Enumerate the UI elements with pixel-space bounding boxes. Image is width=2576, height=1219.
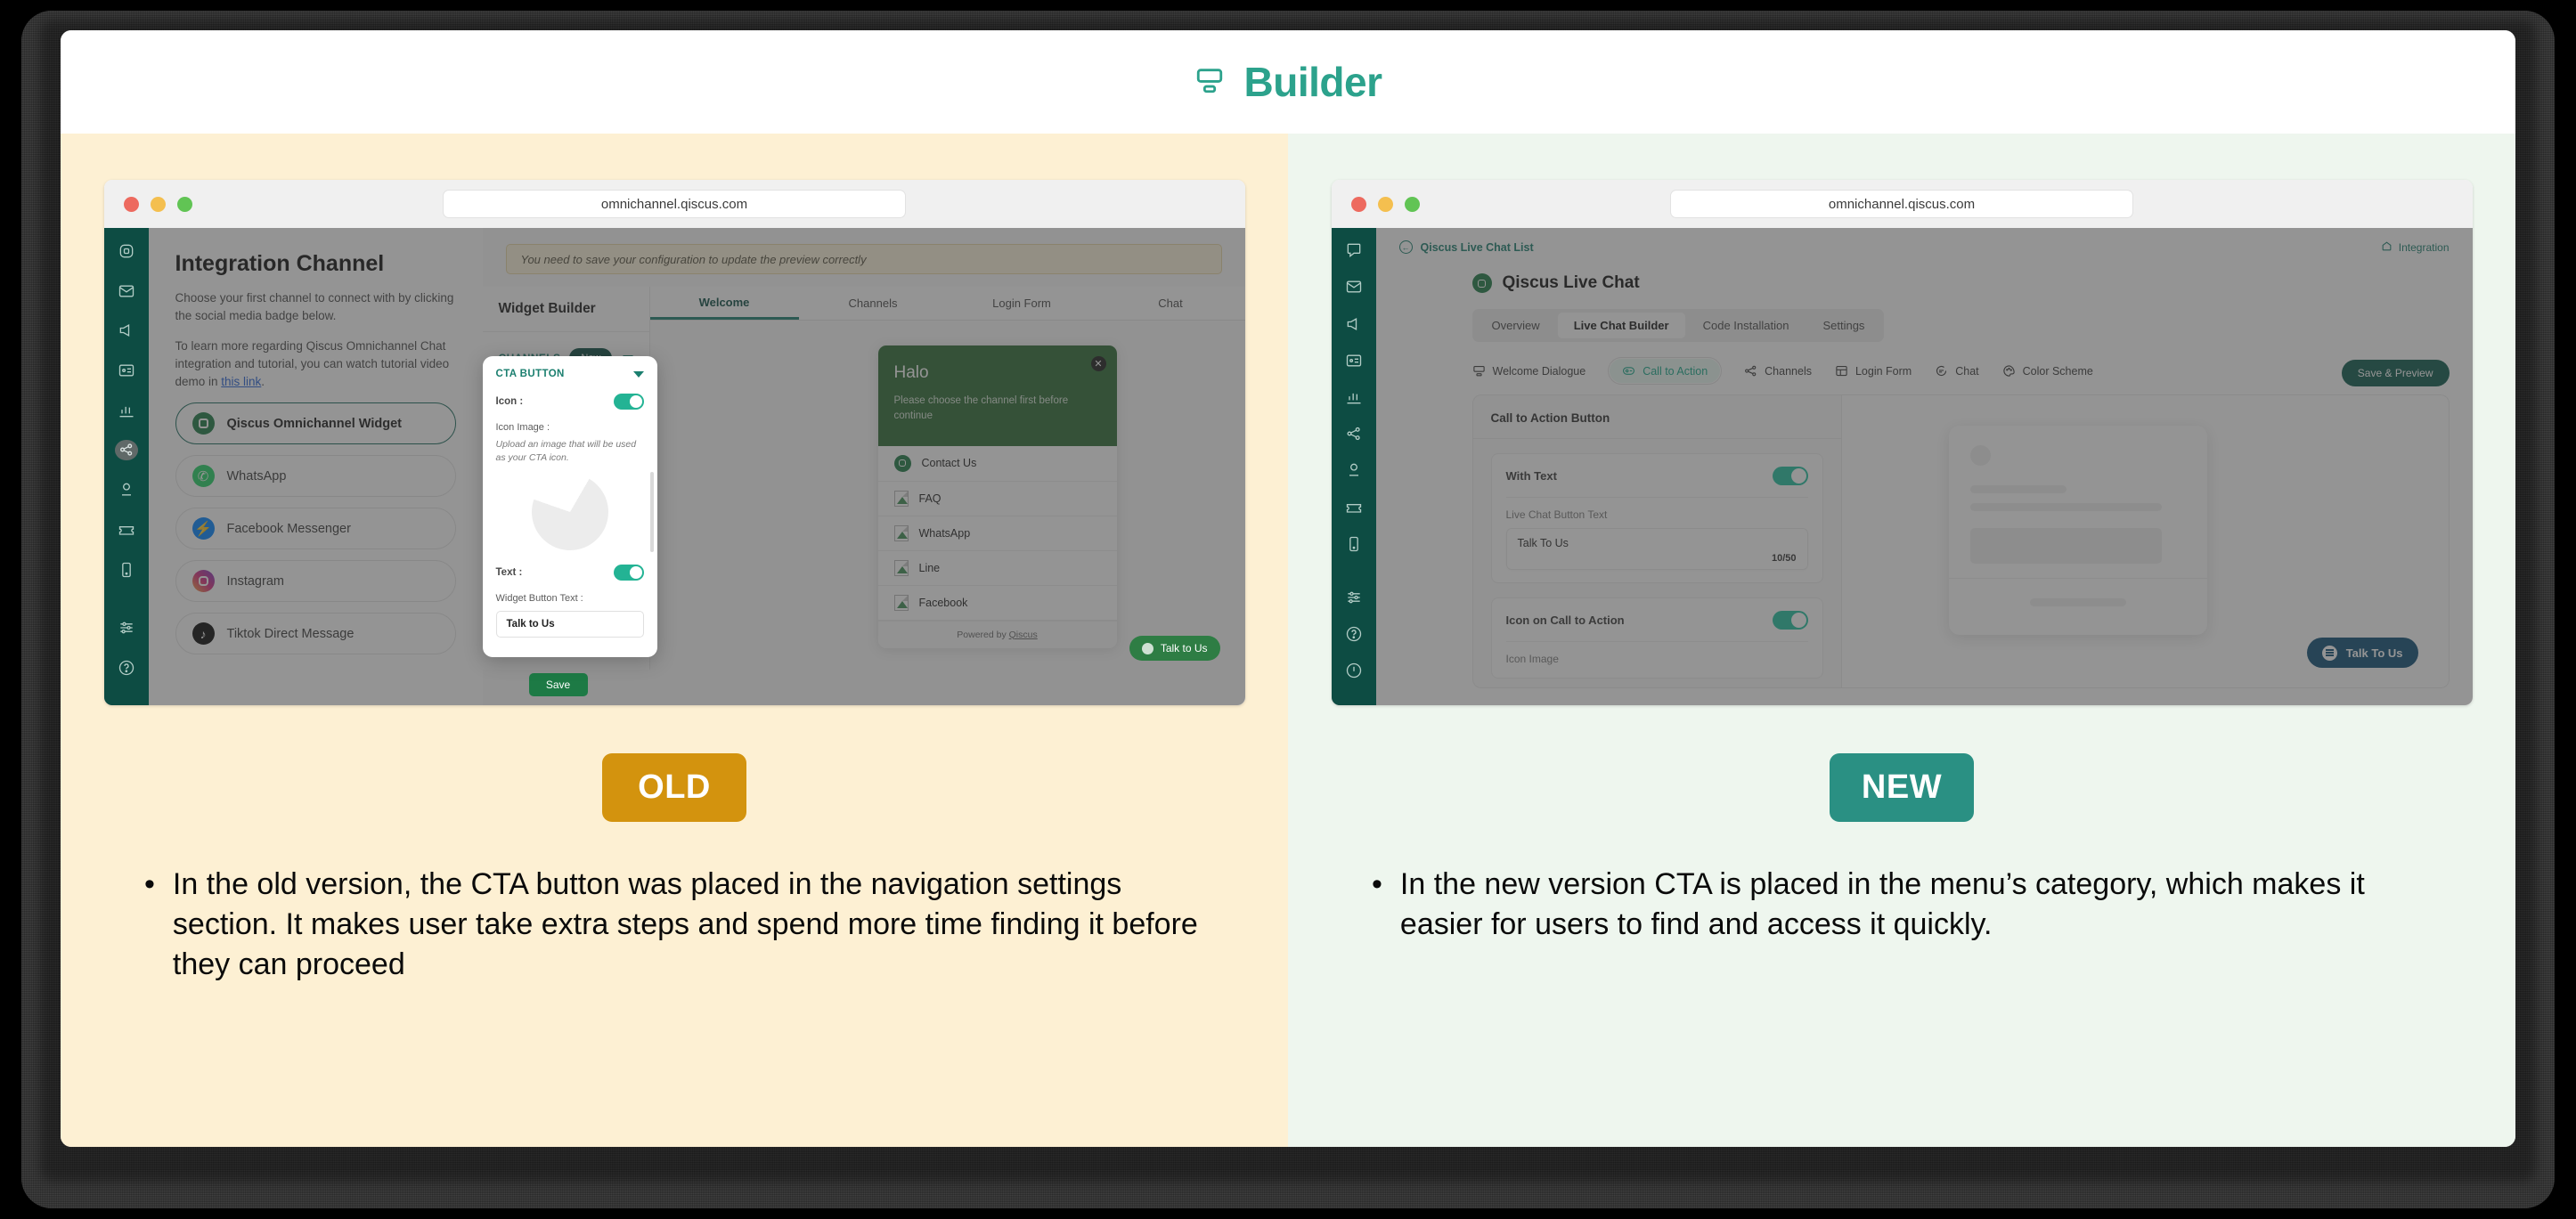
qiscus-icon — [1472, 273, 1492, 293]
live-chat-button-text-input[interactable]: Talk To Us 10/50 — [1506, 528, 1808, 570]
preview-talk-to-us-button[interactable]: Talk To Us — [2307, 638, 2418, 668]
icon-image-label: Icon Image — [1506, 653, 1808, 665]
channel-label: Tiktok Direct Message — [227, 627, 355, 641]
new-browser-mock: omnichannel.qiscus.com — [1332, 180, 2473, 705]
subnav-label: Login Form — [1855, 365, 1912, 378]
icon-on-cta-toggle[interactable] — [1773, 611, 1808, 630]
analytics-icon[interactable] — [115, 400, 138, 421]
with-text-box: With Text Live Chat Button Text Talk To … — [1491, 453, 1823, 583]
cta-button-title: CTA BUTTON — [496, 369, 565, 379]
subnav-chat[interactable]: Chat — [1935, 364, 1978, 378]
broken-image-icon — [894, 595, 909, 611]
live-chat-button-text-label: Live Chat Button Text — [1506, 508, 1808, 521]
close-window-dot[interactable] — [124, 197, 139, 212]
help-icon[interactable] — [1342, 624, 1365, 644]
skeleton-line — [1970, 503, 2162, 511]
old-browser-viewport: Integration Channel Choose your first ch… — [104, 228, 1245, 705]
bullet-marker: • — [1372, 865, 1382, 945]
paragraph-2-pre: To learn more regarding Qiscus Omnichann… — [175, 339, 450, 389]
integration-label: Integration — [2399, 241, 2450, 254]
call-to-action-panel: Call to Action Button With Text Live Cha… — [1472, 394, 1842, 688]
divider — [1506, 641, 1808, 642]
cta-text-toggle-row: Text : — [496, 565, 644, 581]
subnav-label: Welcome Dialogue — [1493, 365, 1586, 378]
builder-subnav: Welcome Dialogue Call to Action — [1472, 363, 2450, 378]
channel-option-tiktok-direct-message[interactable]: ♪ Tiktok Direct Message — [175, 613, 456, 654]
layout-icon — [1194, 65, 1225, 100]
cta-icon — [1622, 364, 1635, 378]
divider — [483, 331, 649, 332]
tab-channels[interactable]: Channels — [799, 287, 948, 320]
new-browser-viewport: ← Qiscus Live Chat List Integration Qisc… — [1332, 228, 2473, 705]
cta-button-popover: CTA BUTTON Icon : Icon Image : Upload an… — [483, 356, 657, 657]
tab-welcome[interactable]: Welcome — [650, 287, 799, 320]
home-icon — [2381, 240, 2393, 255]
widget-preview-footer: Powered by Qiscus — [878, 621, 1117, 648]
widget-preview-heading: Halo — [894, 363, 1101, 383]
old-preview-tabs: Welcome Channels Login Form Chat — [650, 287, 1245, 321]
subnav-call-to-action[interactable]: Call to Action — [1609, 358, 1721, 384]
messenger-icon: ⚡ — [192, 517, 215, 540]
window-controls[interactable] — [124, 197, 192, 212]
skeleton-line — [1970, 485, 2067, 493]
tab-code-installation[interactable]: Code Installation — [1687, 313, 1806, 338]
new-panel: omnichannel.qiscus.com — [1288, 134, 2515, 1147]
save-and-preview-button[interactable]: Save & Preview — [2342, 360, 2450, 386]
subnav-label: Channels — [1765, 365, 1812, 378]
integration-channel-column: Integration Channel Choose your first ch… — [149, 228, 483, 705]
palette-icon — [2002, 364, 2016, 378]
tab-live-chat-builder[interactable]: Live Chat Builder — [1558, 313, 1685, 338]
config-alert-banner: You need to save your configuration to u… — [506, 244, 1222, 274]
divider — [1506, 497, 1808, 498]
powered-by-text: Powered by — [957, 630, 1008, 640]
skeleton-line — [2030, 598, 2126, 606]
subnav-label: Call to Action — [1643, 365, 1708, 378]
subnav-label: Color Scheme — [2023, 365, 2093, 378]
address-bar[interactable]: omnichannel.qiscus.com — [1670, 190, 2133, 218]
window-controls[interactable] — [1351, 197, 1420, 212]
integration-channel-title: Integration Channel — [175, 251, 456, 277]
old-panel: omnichannel.qiscus.com — [61, 134, 1288, 1147]
channel-option-facebook-messenger[interactable]: ⚡ Facebook Messenger — [175, 508, 456, 549]
bullet-marker: • — [144, 865, 155, 986]
address-bar[interactable]: omnichannel.qiscus.com — [443, 190, 906, 218]
chat-icon — [1142, 643, 1153, 654]
channel-label: Qiscus Omnichannel Widget — [227, 417, 402, 431]
minimize-window-dot[interactable] — [151, 197, 166, 212]
channel-option-instagram[interactable]: Instagram — [175, 560, 456, 602]
whatsapp-icon: ✆ — [192, 465, 215, 487]
back-arrow-icon[interactable]: ← — [1399, 240, 1413, 254]
contacts-icon[interactable] — [1342, 351, 1365, 370]
talk-button-label: Talk to Us — [1161, 642, 1208, 654]
integration-channel-paragraph-2: To learn more regarding Qiscus Omnichann… — [175, 337, 456, 392]
chevron-down-icon[interactable] — [633, 371, 644, 378]
qiscus-logo-icon[interactable] — [115, 240, 138, 262]
preview-item-label: Facebook — [919, 597, 968, 609]
icon-on-cta-row: Icon on Call to Action — [1506, 611, 1808, 630]
cta-icon-toggle-row: Icon : — [496, 394, 644, 410]
old-main-area: You need to save your configuration to u… — [483, 228, 1245, 705]
cta-icon-image-hint: Upload an image that will be used as you… — [496, 438, 644, 465]
page-title: Qiscus Live Chat — [1503, 273, 1640, 293]
breadcrumb-label: Qiscus Live Chat List — [1421, 241, 1534, 254]
agents-icon[interactable] — [115, 479, 138, 500]
browser-titlebar: omnichannel.qiscus.com — [104, 180, 1245, 228]
close-window-dot[interactable] — [1351, 197, 1366, 212]
cta-icon-image-label: Icon Image : — [496, 422, 644, 433]
tiktok-icon: ♪ — [192, 622, 215, 645]
integration-link[interactable]: Integration — [2381, 240, 2450, 255]
qiscus-logo-icon[interactable] — [1342, 240, 1365, 260]
channel-option-qiscus-omnichannel-widget[interactable]: Qiscus Omnichannel Widget — [175, 402, 456, 444]
minimize-window-dot[interactable] — [1378, 197, 1393, 212]
subnav-label: Chat — [1955, 365, 1978, 378]
contacts-icon[interactable] — [115, 360, 138, 381]
broken-image-icon — [894, 525, 909, 541]
help-icon[interactable] — [115, 657, 138, 679]
page-title: Builder — [1244, 58, 1382, 106]
cta-icon-label: Icon : — [496, 396, 524, 407]
widget-builder-title: Widget Builder — [499, 301, 633, 317]
cta-icon-preview — [532, 474, 608, 550]
with-text-row: With Text — [1506, 467, 1808, 485]
widget-button-text-label: Widget Button Text : — [496, 593, 644, 604]
preview-item-label: Contact Us — [922, 457, 977, 469]
talk-button-label: Talk To Us — [2346, 646, 2403, 660]
breadcrumb[interactable]: ← Qiscus Live Chat List — [1399, 240, 2450, 254]
page-header: Builder — [61, 30, 2515, 134]
save-button[interactable]: Save — [529, 673, 588, 696]
subnav-color-scheme[interactable]: Color Scheme — [2002, 364, 2093, 378]
instagram-icon — [192, 570, 215, 592]
qiscus-icon — [192, 412, 215, 435]
mobile-icon[interactable] — [1342, 534, 1365, 554]
widget-preview-header: ✕ Halo Please choose the channel first b… — [878, 345, 1117, 446]
browser-titlebar: omnichannel.qiscus.com — [1332, 180, 2473, 228]
skeleton-block — [1970, 528, 2162, 564]
integration-icon[interactable] — [1342, 424, 1365, 443]
widget-preview: ✕ Halo Please choose the channel first b… — [878, 345, 1117, 648]
table-icon — [1835, 364, 1848, 378]
new-caption: • In the new version CTA is placed in th… — [1372, 865, 2432, 945]
new-preview-column: Talk To Us — [1842, 394, 2450, 688]
settings-sliders-icon[interactable] — [1342, 588, 1365, 607]
old-preview-column: Welcome Channels Login Form Chat ✕ Halo — [650, 287, 1245, 670]
close-icon[interactable]: ✕ — [1091, 356, 1106, 371]
channel-label: Instagram — [227, 574, 284, 589]
with-text-label: With Text — [1506, 469, 1557, 483]
page-title-row: Qiscus Live Chat — [1472, 273, 2450, 293]
preview-item-label: FAQ — [919, 492, 942, 505]
integration-icon[interactable] — [115, 440, 138, 461]
input-value: Talk To Us — [1518, 537, 1797, 549]
channel-option-whatsapp[interactable]: ✆ WhatsApp — [175, 455, 456, 497]
new-sidebar-rail — [1332, 228, 1376, 705]
old-sidebar-rail — [104, 228, 149, 705]
inbox-icon[interactable] — [1342, 277, 1365, 297]
chat-bubble-icon — [1935, 364, 1948, 378]
preview-skeleton-card — [1949, 426, 2207, 635]
widget-preview-subheading: Please choose the channel first before c… — [894, 394, 1101, 425]
share-nodes-icon — [1744, 364, 1757, 378]
settings-sliders-icon[interactable] — [115, 617, 138, 638]
old-split: Widget Builder CHANNELS New — [483, 287, 1245, 670]
new-tab-bar: Overview Live Chat Builder Code Installa… — [1472, 309, 1885, 342]
cta-icon-toggle[interactable] — [614, 394, 644, 410]
old-badge: OLD — [602, 753, 746, 822]
mobile-icon[interactable] — [115, 559, 138, 581]
icon-on-cta-box: Icon on Call to Action Icon Image — [1491, 597, 1823, 679]
maximize-window-dot[interactable] — [177, 197, 192, 212]
broken-image-icon — [894, 491, 909, 507]
tab-overview[interactable]: Overview — [1476, 313, 1556, 338]
preview-talk-to-us-button[interactable]: Talk to Us — [1129, 636, 1220, 661]
subnav-channels[interactable]: Channels — [1744, 364, 1812, 378]
tab-chat[interactable]: Chat — [1096, 287, 1245, 320]
tab-login-form[interactable]: Login Form — [948, 287, 1096, 320]
comparison-panels: omnichannel.qiscus.com — [61, 134, 2515, 1147]
builder-content: Call to Action Button With Text Live Cha… — [1472, 394, 2450, 688]
paragraph-2-post: . — [261, 375, 265, 388]
analytics-icon[interactable] — [1342, 387, 1365, 407]
maximize-window-dot[interactable] — [1405, 197, 1420, 212]
char-counter: 10/50 — [1518, 553, 1797, 564]
divider — [1949, 578, 2207, 579]
broken-image-icon — [894, 560, 909, 576]
qiscus-icon — [894, 455, 911, 472]
integration-channel-paragraph-1: Choose your first channel to connect wit… — [175, 289, 456, 326]
agents-icon[interactable] — [1342, 460, 1365, 480]
preview-item-contact-us[interactable]: Contact Us — [878, 446, 1117, 482]
subnav-login-form[interactable]: Login Form — [1835, 364, 1912, 378]
broadcast-icon[interactable] — [115, 320, 138, 341]
widget-builder-column: Widget Builder CHANNELS New — [483, 287, 650, 670]
subnav-welcome-dialogue[interactable]: Welcome Dialogue — [1472, 364, 1586, 378]
divider — [1473, 438, 1841, 439]
tutorial-link[interactable]: this link — [221, 375, 261, 388]
preview-item-faq[interactable]: FAQ — [878, 482, 1117, 516]
preview-item-line[interactable]: Line — [878, 551, 1117, 586]
skeleton-avatar — [1970, 445, 1991, 466]
old-caption: • In the old version, the CTA button was… — [144, 865, 1204, 986]
broadcast-icon[interactable] — [1342, 313, 1365, 333]
old-caption-text: In the old version, the CTA button was p… — [173, 865, 1204, 986]
slide-card: Builder omnichannel.qiscus.com — [61, 30, 2515, 1147]
cta-popover-header[interactable]: CTA BUTTON — [496, 369, 644, 379]
tab-settings[interactable]: Settings — [1806, 313, 1880, 338]
inbox-icon[interactable] — [115, 280, 138, 302]
preview-item-whatsapp[interactable]: WhatsApp — [878, 516, 1117, 551]
ticket-icon[interactable] — [115, 519, 138, 540]
icon-on-cta-label: Icon on Call to Action — [1506, 614, 1625, 627]
cta-text-label: Text : — [496, 567, 523, 578]
monitor-icon — [1472, 364, 1486, 378]
qiscus-link[interactable]: Qiscus — [1009, 630, 1038, 640]
ticket-icon[interactable] — [1342, 497, 1365, 516]
preview-item-label: WhatsApp — [919, 527, 971, 540]
cta-panel-title: Call to Action Button — [1491, 411, 1823, 425]
preview-item-label: Line — [919, 562, 941, 574]
old-browser-mock: omnichannel.qiscus.com — [104, 180, 1245, 705]
new-badge: NEW — [1830, 753, 1974, 822]
channel-label: Facebook Messenger — [227, 522, 351, 536]
new-main-area: ← Qiscus Live Chat List Integration Qisc… — [1376, 228, 2473, 705]
scrollbar-thumb[interactable] — [650, 472, 654, 552]
new-caption-text: In the new version CTA is placed in the … — [1400, 865, 2432, 945]
cta-text-toggle[interactable] — [614, 565, 644, 581]
chat-icon — [2322, 646, 2337, 661]
logout-icon[interactable] — [1342, 661, 1365, 680]
preview-item-facebook[interactable]: Facebook — [878, 586, 1117, 621]
widget-button-text-input[interactable]: Talk to Us — [496, 611, 644, 638]
channel-label: WhatsApp — [227, 469, 287, 484]
with-text-toggle[interactable] — [1773, 467, 1808, 485]
